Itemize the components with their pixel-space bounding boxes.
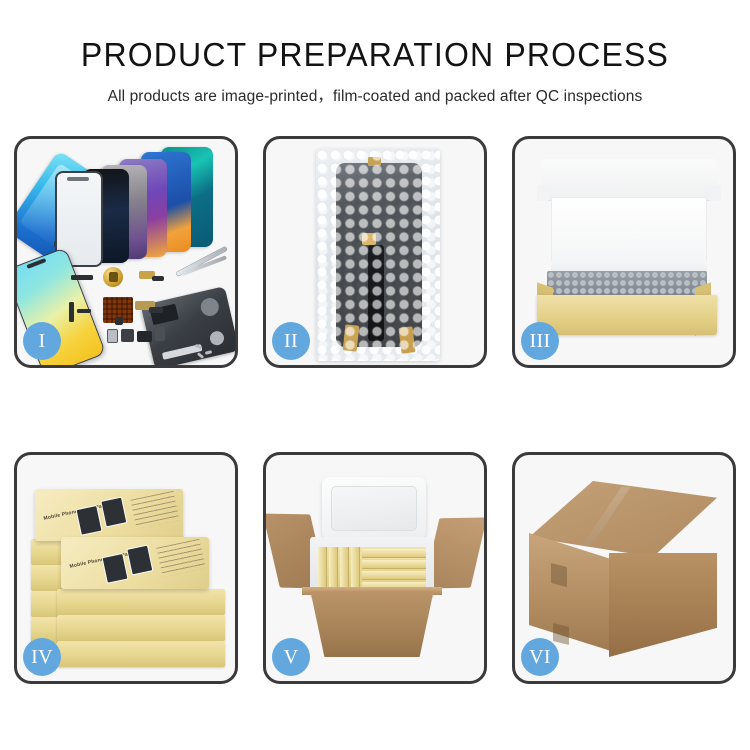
box-lid-phone-icon <box>100 497 127 528</box>
box-stack: Mobile Phone Spare Parts Mobile Phone Sp… <box>29 473 229 669</box>
bubble-bag <box>316 149 440 361</box>
box-lid-phone-icon <box>75 505 102 536</box>
connector-2-icon <box>149 307 163 313</box>
printed-box-lid-front: Mobile Phone Spare Parts <box>61 537 209 589</box>
stacked-box-icon <box>57 641 225 667</box>
infographic-page: PRODUCT PREPARATION PROCESS All products… <box>0 0 750 750</box>
process-panel-grid: I II <box>14 136 736 684</box>
foam-lid-face-icon <box>551 197 707 263</box>
page-title: PRODUCT PREPARATION PROCESS <box>11 38 739 71</box>
inner-boxes-packed-icon <box>318 547 426 591</box>
screws-icon <box>195 345 221 359</box>
gold-coil-icon <box>103 267 123 287</box>
stacked-box-icon <box>57 615 225 641</box>
panel-badge-6: VI <box>521 638 559 676</box>
box-lid-phone-images <box>75 496 129 532</box>
panel-step-5: V <box>263 452 487 684</box>
panel-badge-3: III <box>521 322 559 360</box>
foam-box-lid-icon <box>322 477 426 539</box>
panel-badge-2: II <box>272 322 310 360</box>
part-bar-1-icon <box>71 275 93 280</box>
part-bar-3-icon <box>77 309 91 313</box>
frame-camera-icon <box>199 296 221 318</box>
panel-step-2: II <box>263 136 487 368</box>
camera-module-icon <box>155 327 165 341</box>
panel-step-1: I <box>14 136 238 368</box>
small-chip-icon <box>115 317 123 325</box>
bubble-lining-icon <box>547 271 707 297</box>
sim-tray-icon <box>107 329 118 343</box>
carton-left-face-icon <box>529 533 611 651</box>
panel-step-4: Mobile Phone Spare Parts Mobile Phone Sp… <box>14 452 238 684</box>
yellow-tray-front-icon <box>537 295 717 335</box>
carton-front-icon <box>302 591 442 657</box>
bubble-overlay-icon <box>316 149 440 361</box>
carton-tab-1-icon <box>551 563 567 587</box>
connector-1-icon <box>152 276 164 281</box>
printed-box-lid-back: Mobile Phone Spare Parts <box>35 489 183 541</box>
stacked-box-icon <box>57 589 225 615</box>
carton-right-face-icon <box>609 553 717 657</box>
carton-tab-2-icon <box>553 623 569 645</box>
panel-step-3: III <box>512 136 736 368</box>
panel-badge-4: IV <box>23 638 61 676</box>
panel-step-6: VI <box>512 452 736 684</box>
box-lid-phone-icon <box>126 545 153 576</box>
page-subtitle: All products are image-printed，film-coat… <box>0 84 750 106</box>
part-bar-2-icon <box>69 302 74 322</box>
speaker-part-icon <box>137 331 152 342</box>
box-lid-phone-images <box>101 544 155 580</box>
foam-lid-top-icon <box>541 159 717 201</box>
panel-badge-1: I <box>23 322 61 360</box>
vibrator-icon <box>121 329 134 342</box>
header: PRODUCT PREPARATION PROCESS All products… <box>0 0 750 106</box>
box-lid-spec-lines-icon <box>156 539 205 577</box>
panel-badge-5: V <box>272 638 310 676</box>
box-lid-phone-icon <box>101 553 128 584</box>
inner-box-illustration <box>529 153 719 349</box>
box-lid-spec-lines-icon <box>130 491 179 529</box>
